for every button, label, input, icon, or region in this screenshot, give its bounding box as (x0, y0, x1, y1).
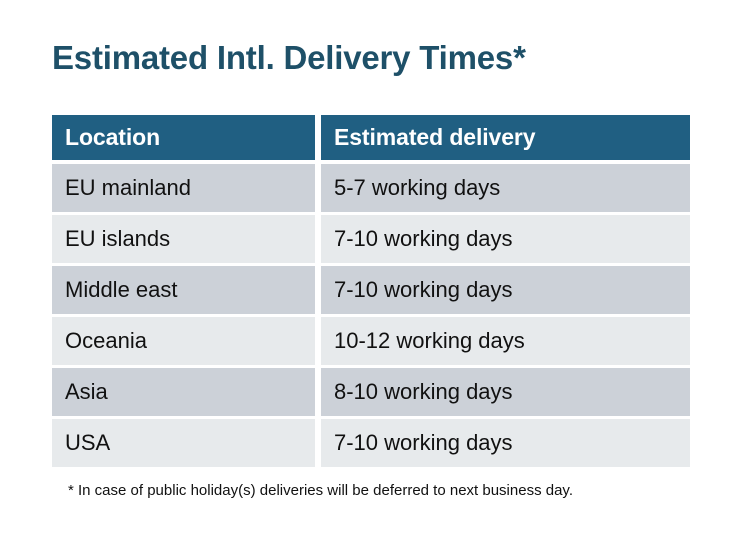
cell-location: EU mainland (52, 164, 315, 212)
column-header-estimated-delivery: Estimated delivery (321, 115, 690, 160)
cell-location: Oceania (52, 317, 315, 365)
table-row: Oceania 10-12 working days (52, 317, 690, 365)
cell-estimated-delivery: 5-7 working days (321, 164, 690, 212)
cell-location: Middle east (52, 266, 315, 314)
delivery-times-table: Location Estimated delivery EU mainland … (52, 115, 690, 467)
table-row: USA 7-10 working days (52, 419, 690, 467)
cell-location: USA (52, 419, 315, 467)
cell-location: EU islands (52, 215, 315, 263)
column-header-location: Location (52, 115, 315, 160)
cell-estimated-delivery: 7-10 working days (321, 266, 690, 314)
delivery-times-card: Estimated Intl. Delivery Times* Location… (0, 0, 745, 536)
table-row: Middle east 7-10 working days (52, 266, 690, 314)
table-row: Asia 8-10 working days (52, 368, 690, 416)
footnote-text: * In case of public holiday(s) deliverie… (68, 481, 573, 501)
page-title: Estimated Intl. Delivery Times* (52, 36, 526, 80)
cell-estimated-delivery: 8-10 working days (321, 368, 690, 416)
cell-estimated-delivery: 10-12 working days (321, 317, 690, 365)
cell-estimated-delivery: 7-10 working days (321, 215, 690, 263)
table-row: EU mainland 5-7 working days (52, 164, 690, 212)
table-header-row: Location Estimated delivery (52, 115, 690, 160)
cell-estimated-delivery: 7-10 working days (321, 419, 690, 467)
cell-location: Asia (52, 368, 315, 416)
table-row: EU islands 7-10 working days (52, 215, 690, 263)
